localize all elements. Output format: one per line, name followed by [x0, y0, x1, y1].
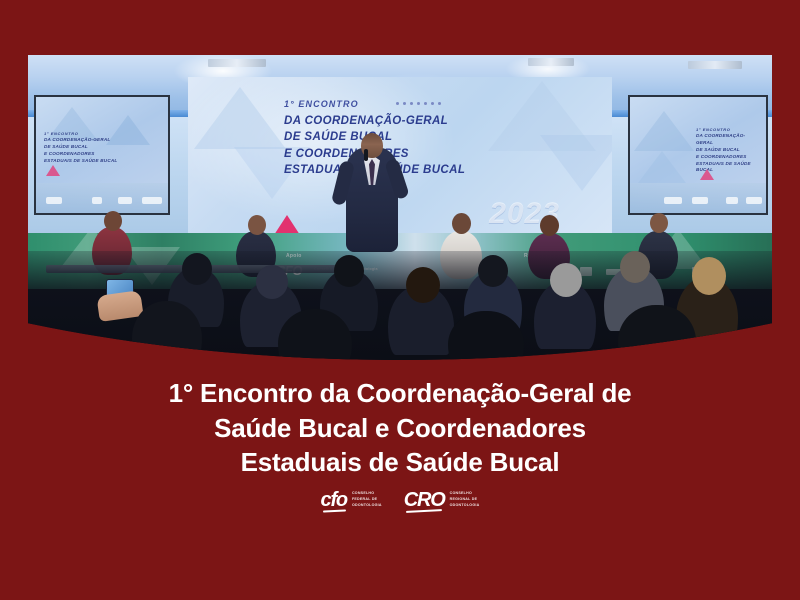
audience-person-head [256, 265, 288, 299]
panelist-1-head [104, 211, 122, 231]
side-left-line-3: E COORDENADORES [44, 151, 162, 158]
projection-screen-right-text: 1° ENCONTRO DA COORDENAÇÃO-GERAL DE SAÚD… [696, 127, 760, 174]
cfo-logo-subtitle: Conselho Federal de Odontologia [352, 491, 382, 509]
audience-person-head [550, 263, 582, 297]
poster-title: 1° Encontro da Coordenação-Geral de Saúd… [0, 376, 800, 480]
side-left-line-2: DE SAÚDE BUCAL [44, 144, 162, 151]
cro-logo: CRO Conselho Regional de Odontologia [404, 490, 480, 510]
projection-screen-main: 1° ENCONTRO DA COORDENAÇÃO-GERAL DE SAÚD… [188, 77, 612, 237]
side-left-pink-triangle [46, 165, 60, 176]
cro-logo-mark: CRO [404, 490, 445, 510]
side-right-line-2: DE SAÚDE BUCAL [696, 147, 760, 154]
panelist-5-head [650, 213, 668, 233]
panelist-2-head [248, 215, 266, 235]
panelist-4-head [540, 215, 559, 236]
side-left-line-1: DA COORDENAÇÃO-GERAL [44, 137, 162, 144]
audience-person-head [692, 257, 726, 295]
side-right-logo-1 [664, 197, 682, 204]
poster: 1° ENCONTRO DA COORDENAÇÃO-GERAL DE SAÚD… [0, 0, 800, 600]
projection-screen-left: 1° ENCONTRO DA COORDENAÇÃO-GERAL DE SAÚD… [34, 95, 170, 215]
audience-person-head [478, 255, 508, 287]
side-right-logo-4 [746, 197, 762, 204]
microphone [364, 149, 368, 161]
audience-person-head [182, 253, 212, 285]
side-left-logo-3 [118, 197, 132, 204]
panelist-3-head [452, 213, 471, 234]
side-left-logo-1 [46, 197, 62, 204]
side-left-line-4: ESTADUAIS DE SAÚDE BUCAL [44, 158, 162, 165]
main-screen-line-1: DA COORDENAÇÃO-GERAL [284, 113, 465, 129]
photo-canvas: 1° ENCONTRO DA COORDENAÇÃO-GERAL DE SAÚD… [28, 55, 772, 360]
side-right-line-3: E COORDENADORES [696, 154, 760, 161]
main-screen-pink-triangle [274, 215, 300, 235]
audience-person-head [620, 251, 650, 283]
audience-person-head [406, 267, 440, 303]
main-screen-heading: 1° ENCONTRO [284, 99, 359, 109]
side-right-line-1: DA COORDENAÇÃO-GERAL [696, 133, 760, 147]
projection-screen-left-text: 1° ENCONTRO DA COORDENAÇÃO-GERAL DE SAÚD… [44, 131, 162, 165]
audience-person-head [334, 255, 364, 287]
cfo-logo-mark: cfo [321, 490, 347, 510]
poster-title-line-1: 1° Encontro da Coordenação-Geral de [0, 376, 800, 411]
event-photo: 1° ENCONTRO DA COORDENAÇÃO-GERAL DE SAÚD… [28, 55, 772, 360]
side-right-logo-3 [726, 197, 738, 204]
cro-logo-subtitle: Conselho Regional de Odontologia [450, 491, 480, 509]
side-left-logo-2 [92, 197, 102, 204]
side-right-logo-2 [692, 197, 708, 204]
side-right-pink-triangle [700, 169, 714, 180]
projection-screen-right: 1° ENCONTRO DA COORDENAÇÃO-GERAL DE SAÚD… [628, 95, 768, 215]
photo-arc-mask: 1° ENCONTRO DA COORDENAÇÃO-GERAL DE SAÚD… [28, 55, 772, 360]
side-left-logo-4 [142, 197, 162, 204]
poster-title-line-3: Estaduais de Saúde Bucal [0, 445, 800, 480]
main-screen-dots [396, 102, 441, 105]
poster-title-line-2: Saúde Bucal e Coordenadores [0, 411, 800, 446]
cfo-logo: cfo Conselho Federal de Odontologia [321, 490, 382, 510]
footer-logos: cfo Conselho Federal de Odontologia CRO … [0, 490, 800, 510]
